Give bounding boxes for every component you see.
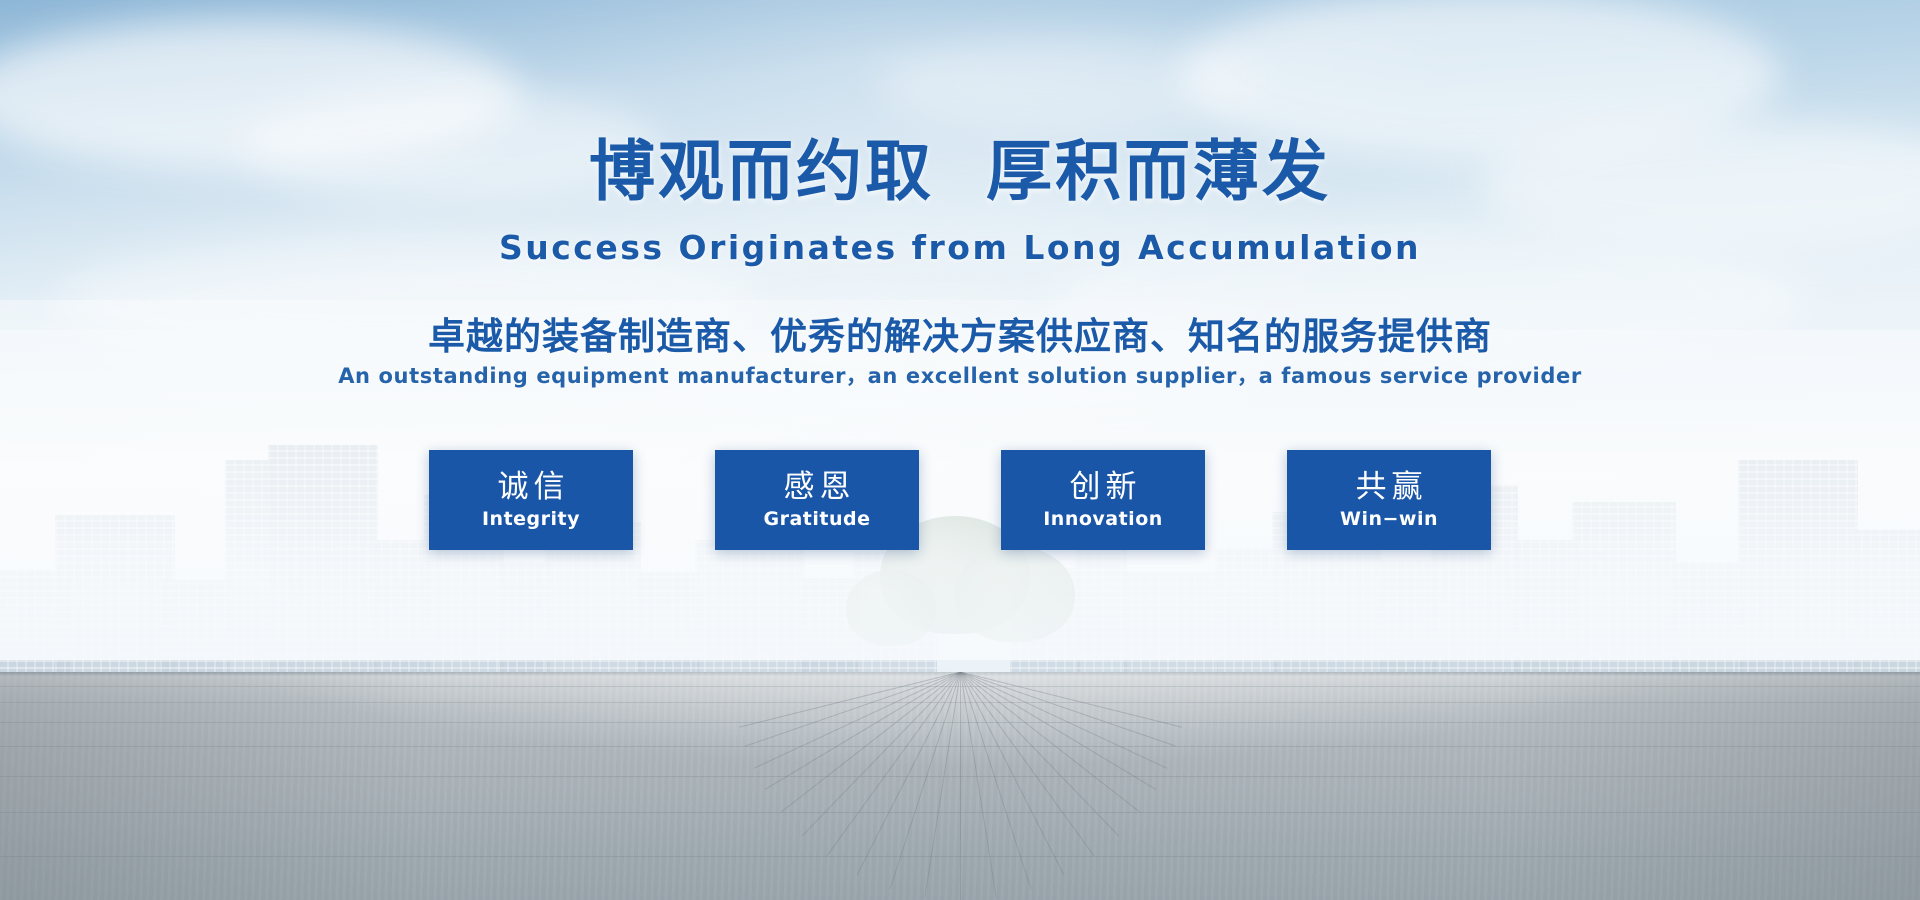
value-label-english: Win−win: [1340, 508, 1438, 530]
core-values-list: 诚信 Integrity 感恩 Gratitude 创新 Innovation …: [0, 450, 1920, 550]
value-label-chinese: 共赢: [1356, 470, 1428, 504]
value-card-innovation[interactable]: 创新 Innovation: [1001, 450, 1205, 550]
value-label-english: Integrity: [482, 508, 580, 530]
banner-headline-chinese: 博观而约取 厚积而薄发: [0, 118, 1920, 214]
banner-content: 博观而约取 厚积而薄发 Success Originates from Long…: [0, 0, 1920, 900]
value-card-gratitude[interactable]: 感恩 Gratitude: [715, 450, 919, 550]
banner-headline-english: Success Originates from Long Accumulatio…: [0, 228, 1920, 267]
value-card-winwin[interactable]: 共赢 Win−win: [1287, 450, 1491, 550]
value-label-chinese: 创新: [1070, 470, 1142, 504]
hero-banner: 博观而约取 厚积而薄发 Success Originates from Long…: [0, 0, 1920, 900]
banner-tagline-chinese: 卓越的装备制造商、优秀的解决方案供应商、知名的服务提供商: [0, 306, 1920, 360]
value-label-chinese: 感恩: [784, 470, 856, 504]
value-label-chinese: 诚信: [498, 470, 570, 504]
value-card-integrity[interactable]: 诚信 Integrity: [429, 450, 633, 550]
value-label-english: Innovation: [1043, 508, 1163, 530]
value-label-english: Gratitude: [764, 508, 871, 530]
banner-tagline-english: An outstanding equipment manufacturer，an…: [0, 360, 1920, 390]
